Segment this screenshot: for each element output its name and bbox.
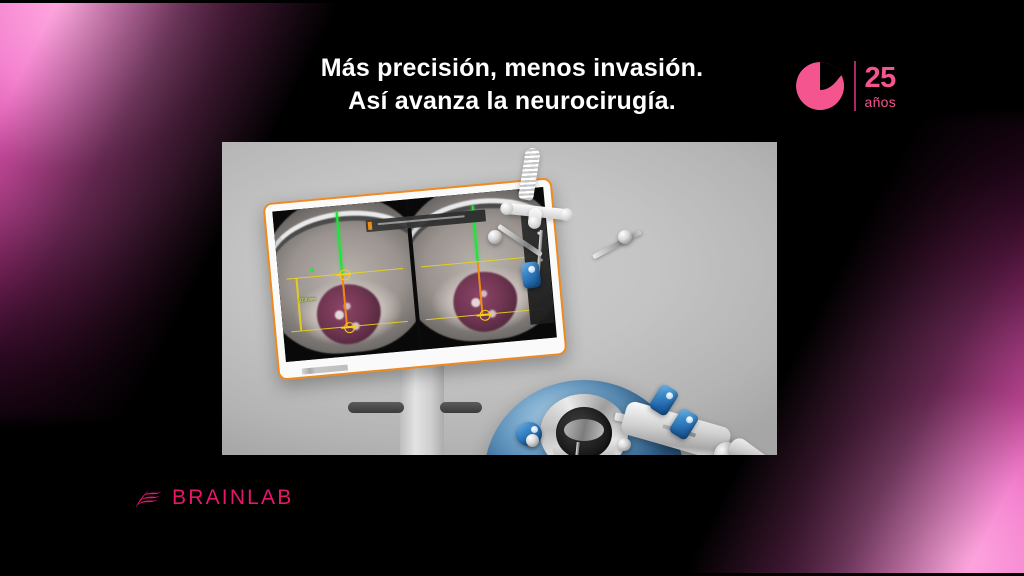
anniversary-divider xyxy=(854,61,856,111)
brainlab-anniversary-circle-icon xyxy=(795,61,845,111)
anniversary-badge: 25 años xyxy=(795,57,905,115)
neurosurgery-navigation-video-frame[interactable]: 17.0 mm xyxy=(222,142,777,455)
measure-label: 17.0 mm xyxy=(299,296,316,302)
brainlab-flame-icon xyxy=(134,488,162,508)
tracker-sphere-lower-right xyxy=(618,438,631,451)
tracker-sphere-upper-left xyxy=(488,230,502,244)
ring-aperture xyxy=(556,407,612,455)
tracker-sphere-left xyxy=(526,434,539,447)
brainlab-logo: BRAINLAB xyxy=(134,486,293,510)
lesion-speckle xyxy=(460,281,512,330)
letterbox-top xyxy=(0,0,1024,3)
anniversary-text: 25 años xyxy=(865,64,897,109)
anniversary-number: 25 xyxy=(865,64,897,93)
brainlab-logo-icon xyxy=(302,364,348,374)
brainlab-wordmark: BRAINLAB xyxy=(172,486,293,510)
frame-knob-upper[interactable] xyxy=(520,261,541,289)
lesion-speckle xyxy=(323,294,375,343)
slide-canvas: Más precisión, menos invasión. Así avanz… xyxy=(0,0,1024,576)
monitor-stand-handle-right xyxy=(440,402,482,413)
reference-sphere-bottom xyxy=(527,215,541,229)
monitor-stand-handle-left xyxy=(348,402,404,413)
tracker-sphere-upper-right xyxy=(618,230,632,244)
headline-line-1: Más precisión, menos invasión. xyxy=(321,54,704,82)
monitor-stand-column xyxy=(400,364,444,455)
reference-sphere-right xyxy=(559,208,573,222)
anniversary-unit: años xyxy=(865,95,897,109)
